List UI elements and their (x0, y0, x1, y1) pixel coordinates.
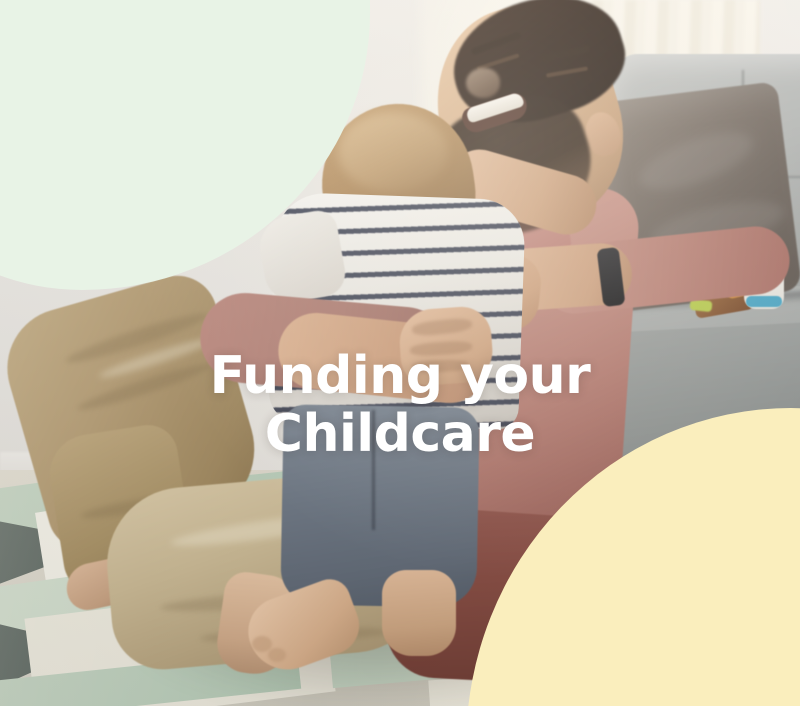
headline-line-2: Childcare (0, 405, 800, 463)
child-leg (382, 570, 456, 656)
father-nose (466, 68, 500, 98)
child-hair-highlight (338, 112, 448, 192)
toy-figure-scarf (746, 296, 782, 307)
funding-your-childcare-banner: Funding your Childcare (0, 0, 800, 706)
headline-line-1: Funding your (0, 347, 800, 405)
banner-headline: Funding your Childcare (0, 347, 800, 463)
